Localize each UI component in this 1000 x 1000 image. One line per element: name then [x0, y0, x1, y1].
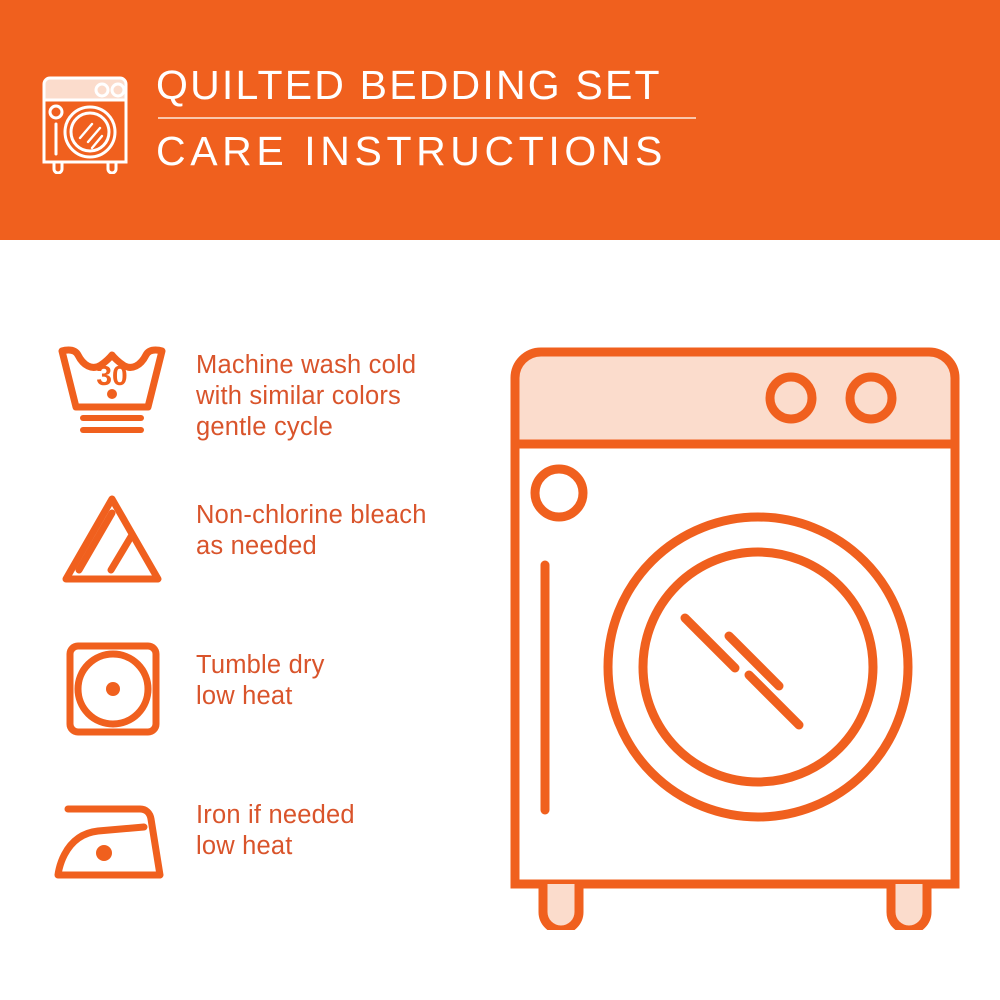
care-line: gentle cycle	[196, 412, 416, 443]
iron-low-heat-icon	[48, 786, 176, 892]
door-shine-lines	[685, 618, 799, 725]
care-line: as needed	[196, 531, 427, 562]
washing-machine-icon	[42, 66, 128, 174]
non-chlorine-bleach-triangle-icon	[48, 486, 176, 592]
title-divider	[158, 117, 696, 119]
care-text-tumble-dry: Tumble dry low heat	[196, 636, 325, 712]
care-row-machine-wash: 30 Machine wash cold with similar colors…	[48, 336, 508, 486]
care-instructions-infographic: QUILTED BEDDING SET CARE INSTRUCTIONS 30…	[0, 0, 1000, 1000]
care-line: Iron if needed	[196, 800, 355, 831]
care-line: Tumble dry	[196, 650, 325, 681]
leg-left	[543, 884, 579, 930]
header-content: QUILTED BEDDING SET CARE INSTRUCTIONS	[42, 62, 696, 175]
title-block: QUILTED BEDDING SET CARE INSTRUCTIONS	[156, 62, 696, 175]
care-line: low heat	[196, 681, 325, 712]
care-text-bleach: Non-chlorine bleach as needed	[196, 486, 427, 562]
care-instruction-list: 30 Machine wash cold with similar colors…	[48, 336, 508, 936]
care-line: with similar colors	[196, 381, 416, 412]
indicator-button	[535, 469, 583, 517]
care-line: Non-chlorine bleach	[196, 500, 427, 531]
care-text-iron: Iron if needed low heat	[196, 786, 355, 862]
care-row-tumble-dry: Tumble dry low heat	[48, 636, 508, 786]
page-title: QUILTED BEDDING SET	[156, 62, 696, 108]
care-text-machine-wash: Machine wash cold with similar colors ge…	[196, 336, 416, 443]
care-line: low heat	[196, 831, 355, 862]
page-subtitle: CARE INSTRUCTIONS	[156, 127, 696, 175]
wash-temperature-label: 30	[96, 360, 127, 391]
care-row-iron: Iron if needed low heat	[48, 786, 508, 936]
care-row-bleach: Non-chlorine bleach as needed	[48, 486, 508, 636]
leg-right	[891, 884, 927, 930]
care-line: Machine wash cold	[196, 350, 416, 381]
header-banner: QUILTED BEDDING SET CARE INSTRUCTIONS	[0, 0, 1000, 240]
wash-tub-30-gentle-icon: 30	[48, 336, 176, 442]
tumble-dry-low-heat-icon	[48, 636, 176, 742]
washing-machine-illustration	[495, 330, 975, 930]
